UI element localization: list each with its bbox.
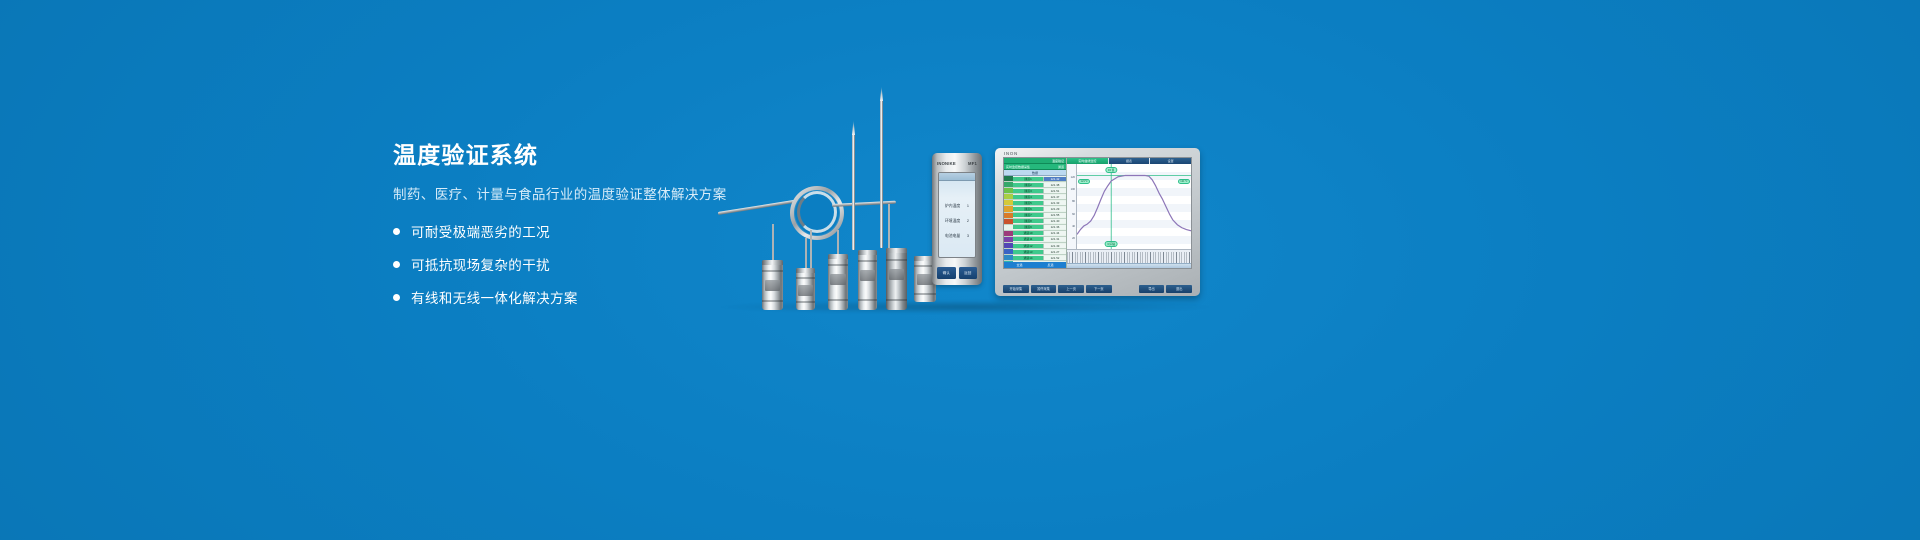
- logger-cylinder-5: [886, 248, 907, 310]
- feature-text: 有线和无线一体化解决方案: [411, 287, 578, 307]
- channel-value-cell: 121.52: [1043, 256, 1066, 260]
- reader-row-label: 电池电量: [945, 234, 960, 239]
- channel-name-cell: 通道4: [1013, 195, 1043, 199]
- pause-collect-button[interactable]: 暂停采集: [1031, 285, 1057, 293]
- y-axis-tick: 120: [1071, 176, 1075, 179]
- channel-color-swatch: [1004, 194, 1013, 199]
- reader-row-value: 2: [967, 219, 969, 223]
- table-sub-bar-right: 通道: [1058, 165, 1064, 169]
- needle-probe-longest: [880, 100, 883, 248]
- handheld-reader[interactable]: INONIKE MF1 炉内温度 1 环境温度 2 电池电量 3: [932, 153, 982, 285]
- channel-color-swatch: [1004, 237, 1013, 242]
- reference-annotation-right: 121℃: [1178, 179, 1190, 184]
- f0-annotation: F0 值: [1106, 167, 1117, 173]
- logger-cylinder-3: [828, 254, 848, 310]
- channel-name-cell: 通道10: [1013, 231, 1043, 235]
- y-axis: 020406080100120: [1067, 164, 1077, 249]
- table-sub-bar-left: 实时监控数据采集: [1006, 165, 1030, 169]
- channel-name-cell: 通道3: [1013, 189, 1043, 193]
- invert-selection-button[interactable]: 反选: [1047, 263, 1053, 267]
- channel-name-cell: 通道14: [1013, 256, 1043, 260]
- logger-cylinder-2: [796, 268, 815, 310]
- logger-cylinder-4: [858, 250, 877, 310]
- horizontal-scrollbar[interactable]: [1067, 263, 1191, 268]
- channel-value-cell: 121.47: [1043, 195, 1066, 199]
- reader-row-value: 1: [967, 204, 969, 208]
- reader-row: 电池电量 3: [945, 233, 969, 239]
- logger-cylinder-1: [762, 260, 783, 310]
- bullet-dot-icon: [393, 294, 400, 301]
- channel-value-cell: 121.27: [1043, 250, 1066, 254]
- reader-row-label: 环境温度: [945, 219, 960, 224]
- y-axis-tick: 60: [1072, 213, 1075, 216]
- channel-name-cell: 通道5: [1013, 201, 1043, 205]
- y-axis-tick: 20: [1072, 237, 1075, 240]
- reader-row: 环境温度 2: [945, 218, 969, 224]
- time-axis-annotation: 时间轴: [1105, 241, 1118, 247]
- channel-color-swatch: [1004, 200, 1013, 205]
- product-photo: INONIKE MF1 炉内温度 1 环境温度 2 电池电量 3: [700, 120, 1220, 310]
- reader-confirm-button[interactable]: 确认: [937, 267, 956, 279]
- channel-color-swatch: [1004, 213, 1013, 218]
- channel-value-cell: 121.51: [1043, 189, 1066, 193]
- needle-probe-long: [852, 134, 855, 250]
- export-button[interactable]: 导出: [1139, 285, 1165, 293]
- channel-value-cell: 121.55: [1043, 213, 1066, 217]
- reader-branding: INONIKE MF1: [937, 160, 977, 167]
- feature-text: 可耐受极端恶劣的工况: [411, 221, 550, 241]
- channel-value-cell: 121.40: [1043, 219, 1066, 223]
- next-page-button[interactable]: 下一页: [1086, 285, 1112, 293]
- table-body[interactable]: 通道1121.42通道2121.38通道3121.51通道4121.47通道51…: [1004, 176, 1066, 262]
- reader-screen: 炉内温度 1 环境温度 2 电池电量 3: [938, 172, 976, 258]
- channel-color-swatch: [1004, 219, 1013, 224]
- chart-panel: 实时曲线监控 报表 设置 020406080100120 F0 值 121℃ 1…: [1067, 158, 1191, 268]
- select-all-button[interactable]: 全选: [1016, 263, 1022, 267]
- reader-row-value: 3: [967, 234, 969, 238]
- reference-annotation-left: 121℃: [1078, 179, 1090, 184]
- y-axis-tick: 100: [1071, 188, 1075, 191]
- coiled-wire-probe: [718, 186, 898, 246]
- channel-name-cell: 通道7: [1013, 213, 1043, 217]
- channel-color-swatch: [1004, 225, 1013, 230]
- channel-color-swatch: [1004, 206, 1013, 211]
- plot-area: 020406080100120 F0 值 121℃ 121℃ 时间轴: [1067, 164, 1191, 249]
- channel-value-cell: 121.38: [1043, 183, 1066, 187]
- channel-name-cell: 通道9: [1013, 225, 1043, 229]
- channel-color-swatch: [1004, 249, 1013, 254]
- start-collect-button[interactable]: 开始采集: [1003, 285, 1029, 293]
- software-window: 温度验证 实时监控数据采集 通道 数据 通道1121.42通道2121.38通道…: [1003, 157, 1192, 269]
- channel-table: 温度验证 实时监控数据采集 通道 数据 通道1121.42通道2121.38通道…: [1004, 158, 1067, 268]
- channel-name-cell: 通道12: [1013, 244, 1043, 248]
- reader-button-row: 确认 返回: [937, 267, 977, 279]
- software-footer-toolbar: 开始采集 暂停采集 上一页 下一页 导出 退出: [1003, 283, 1192, 294]
- channel-name-cell: 通道8: [1013, 219, 1043, 223]
- channel-name-cell: 通道13: [1013, 250, 1043, 254]
- prev-page-button[interactable]: 上一页: [1058, 285, 1084, 293]
- channel-name-cell: 通道6: [1013, 207, 1043, 211]
- temperature-curve-svg: [1077, 164, 1191, 249]
- hero-banner: 温度验证系统 制药、医疗、计量与食品行业的温度验证整体解决方案 可耐受极端恶劣的…: [0, 0, 1920, 540]
- monitor: INON 温度验证 实时监控数据采集 通道 数据 通道1121.42通道2121…: [995, 148, 1200, 296]
- channel-value-cell: 121.42: [1043, 177, 1066, 181]
- reader-row: 炉内温度 1: [945, 203, 969, 209]
- channel-name-cell: 通道11: [1013, 237, 1043, 241]
- channel-name-cell: 通道2: [1013, 183, 1043, 187]
- channel-name-cell: 通道1: [1013, 177, 1043, 181]
- reader-row-label: 炉内温度: [945, 204, 960, 209]
- y-axis-tick: 80: [1072, 200, 1075, 203]
- table-footer: 全选 反选: [1004, 262, 1066, 268]
- monitor-brand-label: INON: [1004, 151, 1018, 156]
- channel-value-cell: 121.33: [1043, 201, 1066, 205]
- reader-model-label: MF1: [968, 161, 977, 167]
- x-axis: [1067, 249, 1191, 268]
- reader-back-button[interactable]: 返回: [959, 267, 978, 279]
- channel-color-swatch: [1004, 255, 1013, 260]
- channel-value-cell: 121.44: [1043, 231, 1066, 235]
- channel-value-cell: 121.49: [1043, 244, 1066, 248]
- exit-button[interactable]: 退出: [1166, 285, 1192, 293]
- bullet-dot-icon: [393, 228, 400, 235]
- channel-color-swatch: [1004, 182, 1013, 187]
- plot-canvas: F0 值 121℃ 121℃ 时间轴: [1077, 164, 1191, 249]
- channel-color-swatch: [1004, 176, 1013, 181]
- channel-color-swatch: [1004, 231, 1013, 236]
- reader-screen-header: [939, 173, 975, 181]
- channel-value-cell: 121.29: [1043, 207, 1066, 211]
- reader-brand-label: INONIKE: [937, 161, 956, 167]
- channel-value-cell: 121.31: [1043, 237, 1066, 241]
- channel-color-swatch: [1004, 243, 1013, 248]
- y-axis-tick: 40: [1072, 225, 1075, 228]
- channel-color-swatch: [1004, 188, 1013, 193]
- feature-text: 可抵抗现场复杂的干扰: [411, 254, 550, 274]
- channel-value-cell: 121.36: [1043, 225, 1066, 229]
- bullet-dot-icon: [393, 261, 400, 268]
